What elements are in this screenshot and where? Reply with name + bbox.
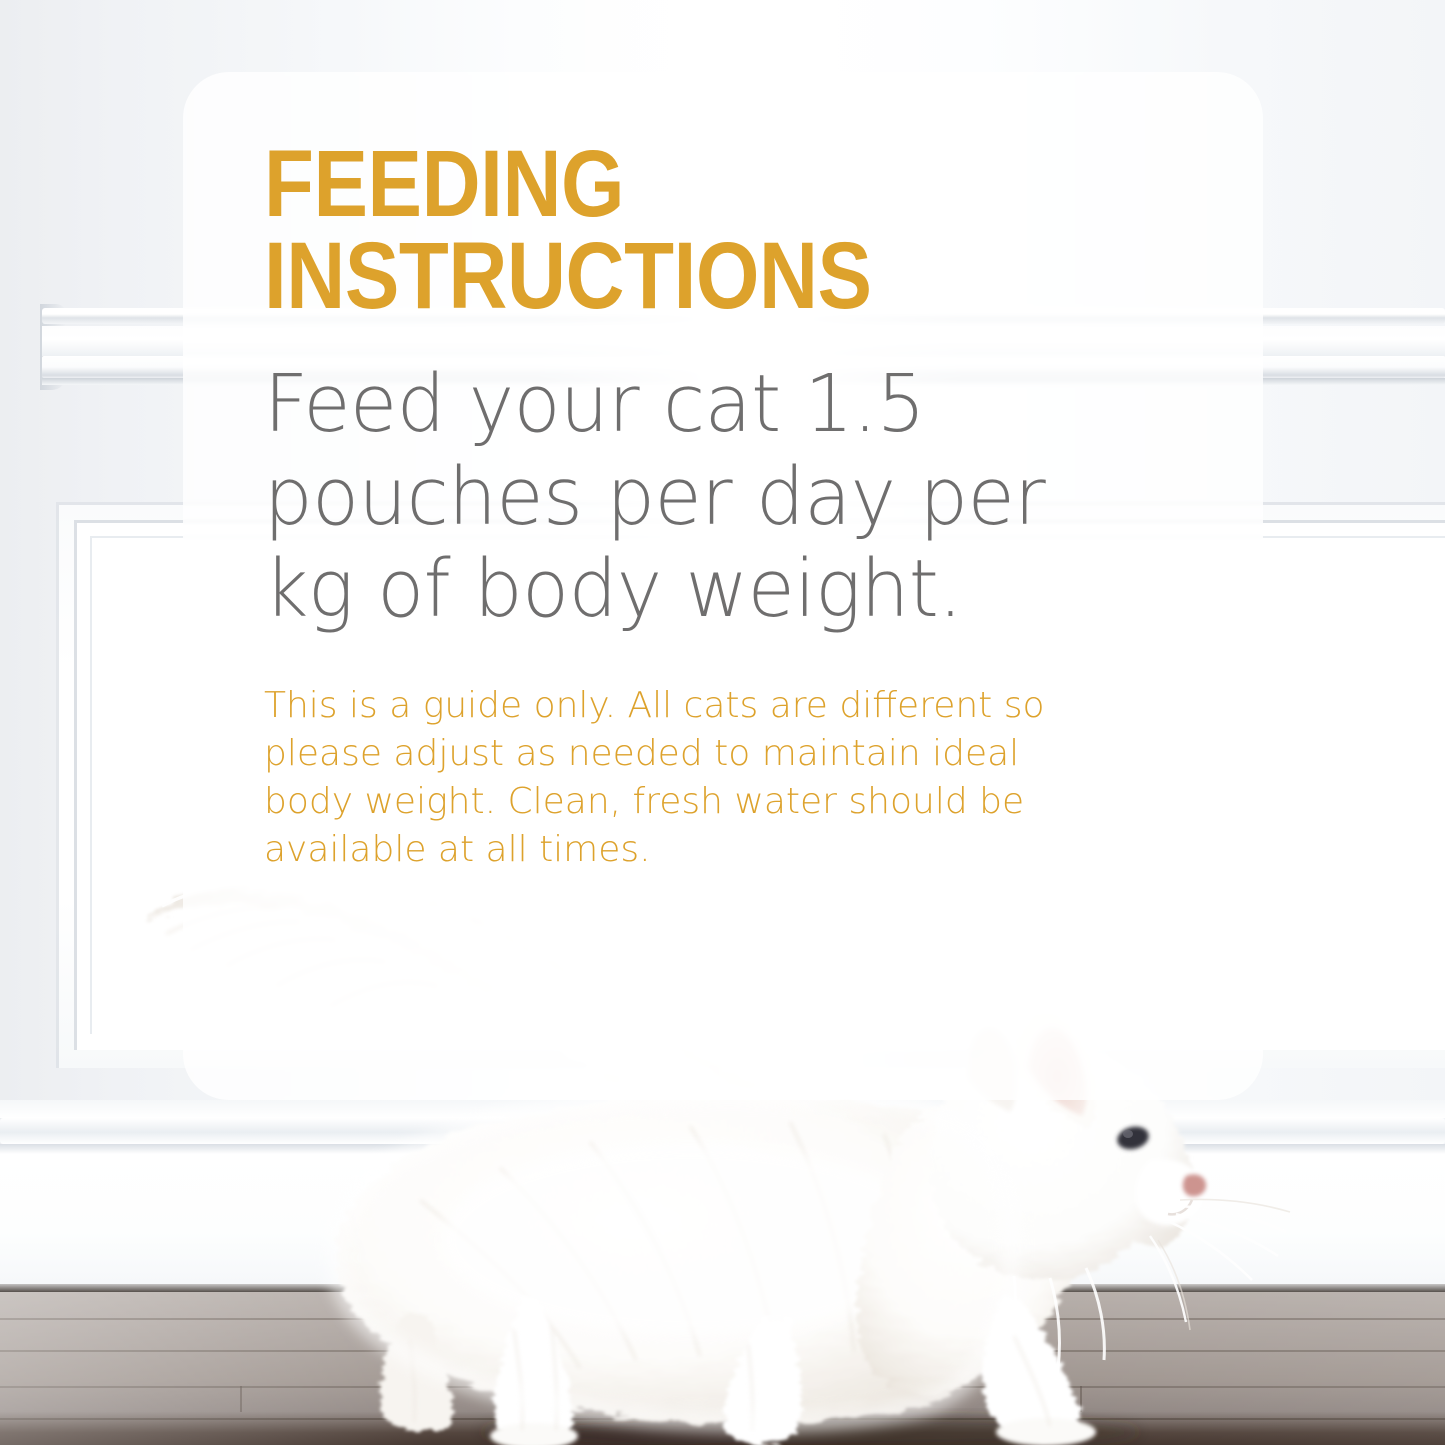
feeding-instructions-card: FEEDING INSTRUCTIONS Feed your cat 1.5 p…: [183, 72, 1263, 1100]
card-lede-text: Feed your cat 1.5 pouches per day per kg…: [264, 358, 1069, 635]
card-heading: FEEDING INSTRUCTIONS: [264, 138, 1123, 322]
baseboard-molding: [0, 1100, 1445, 1292]
card-note-text: This is a guide only. All cats are diffe…: [264, 682, 1094, 875]
feeding-instructions-screenshot: FEEDING INSTRUCTIONS Feed your cat 1.5 p…: [0, 0, 1445, 1445]
wood-floor: [0, 1292, 1445, 1445]
